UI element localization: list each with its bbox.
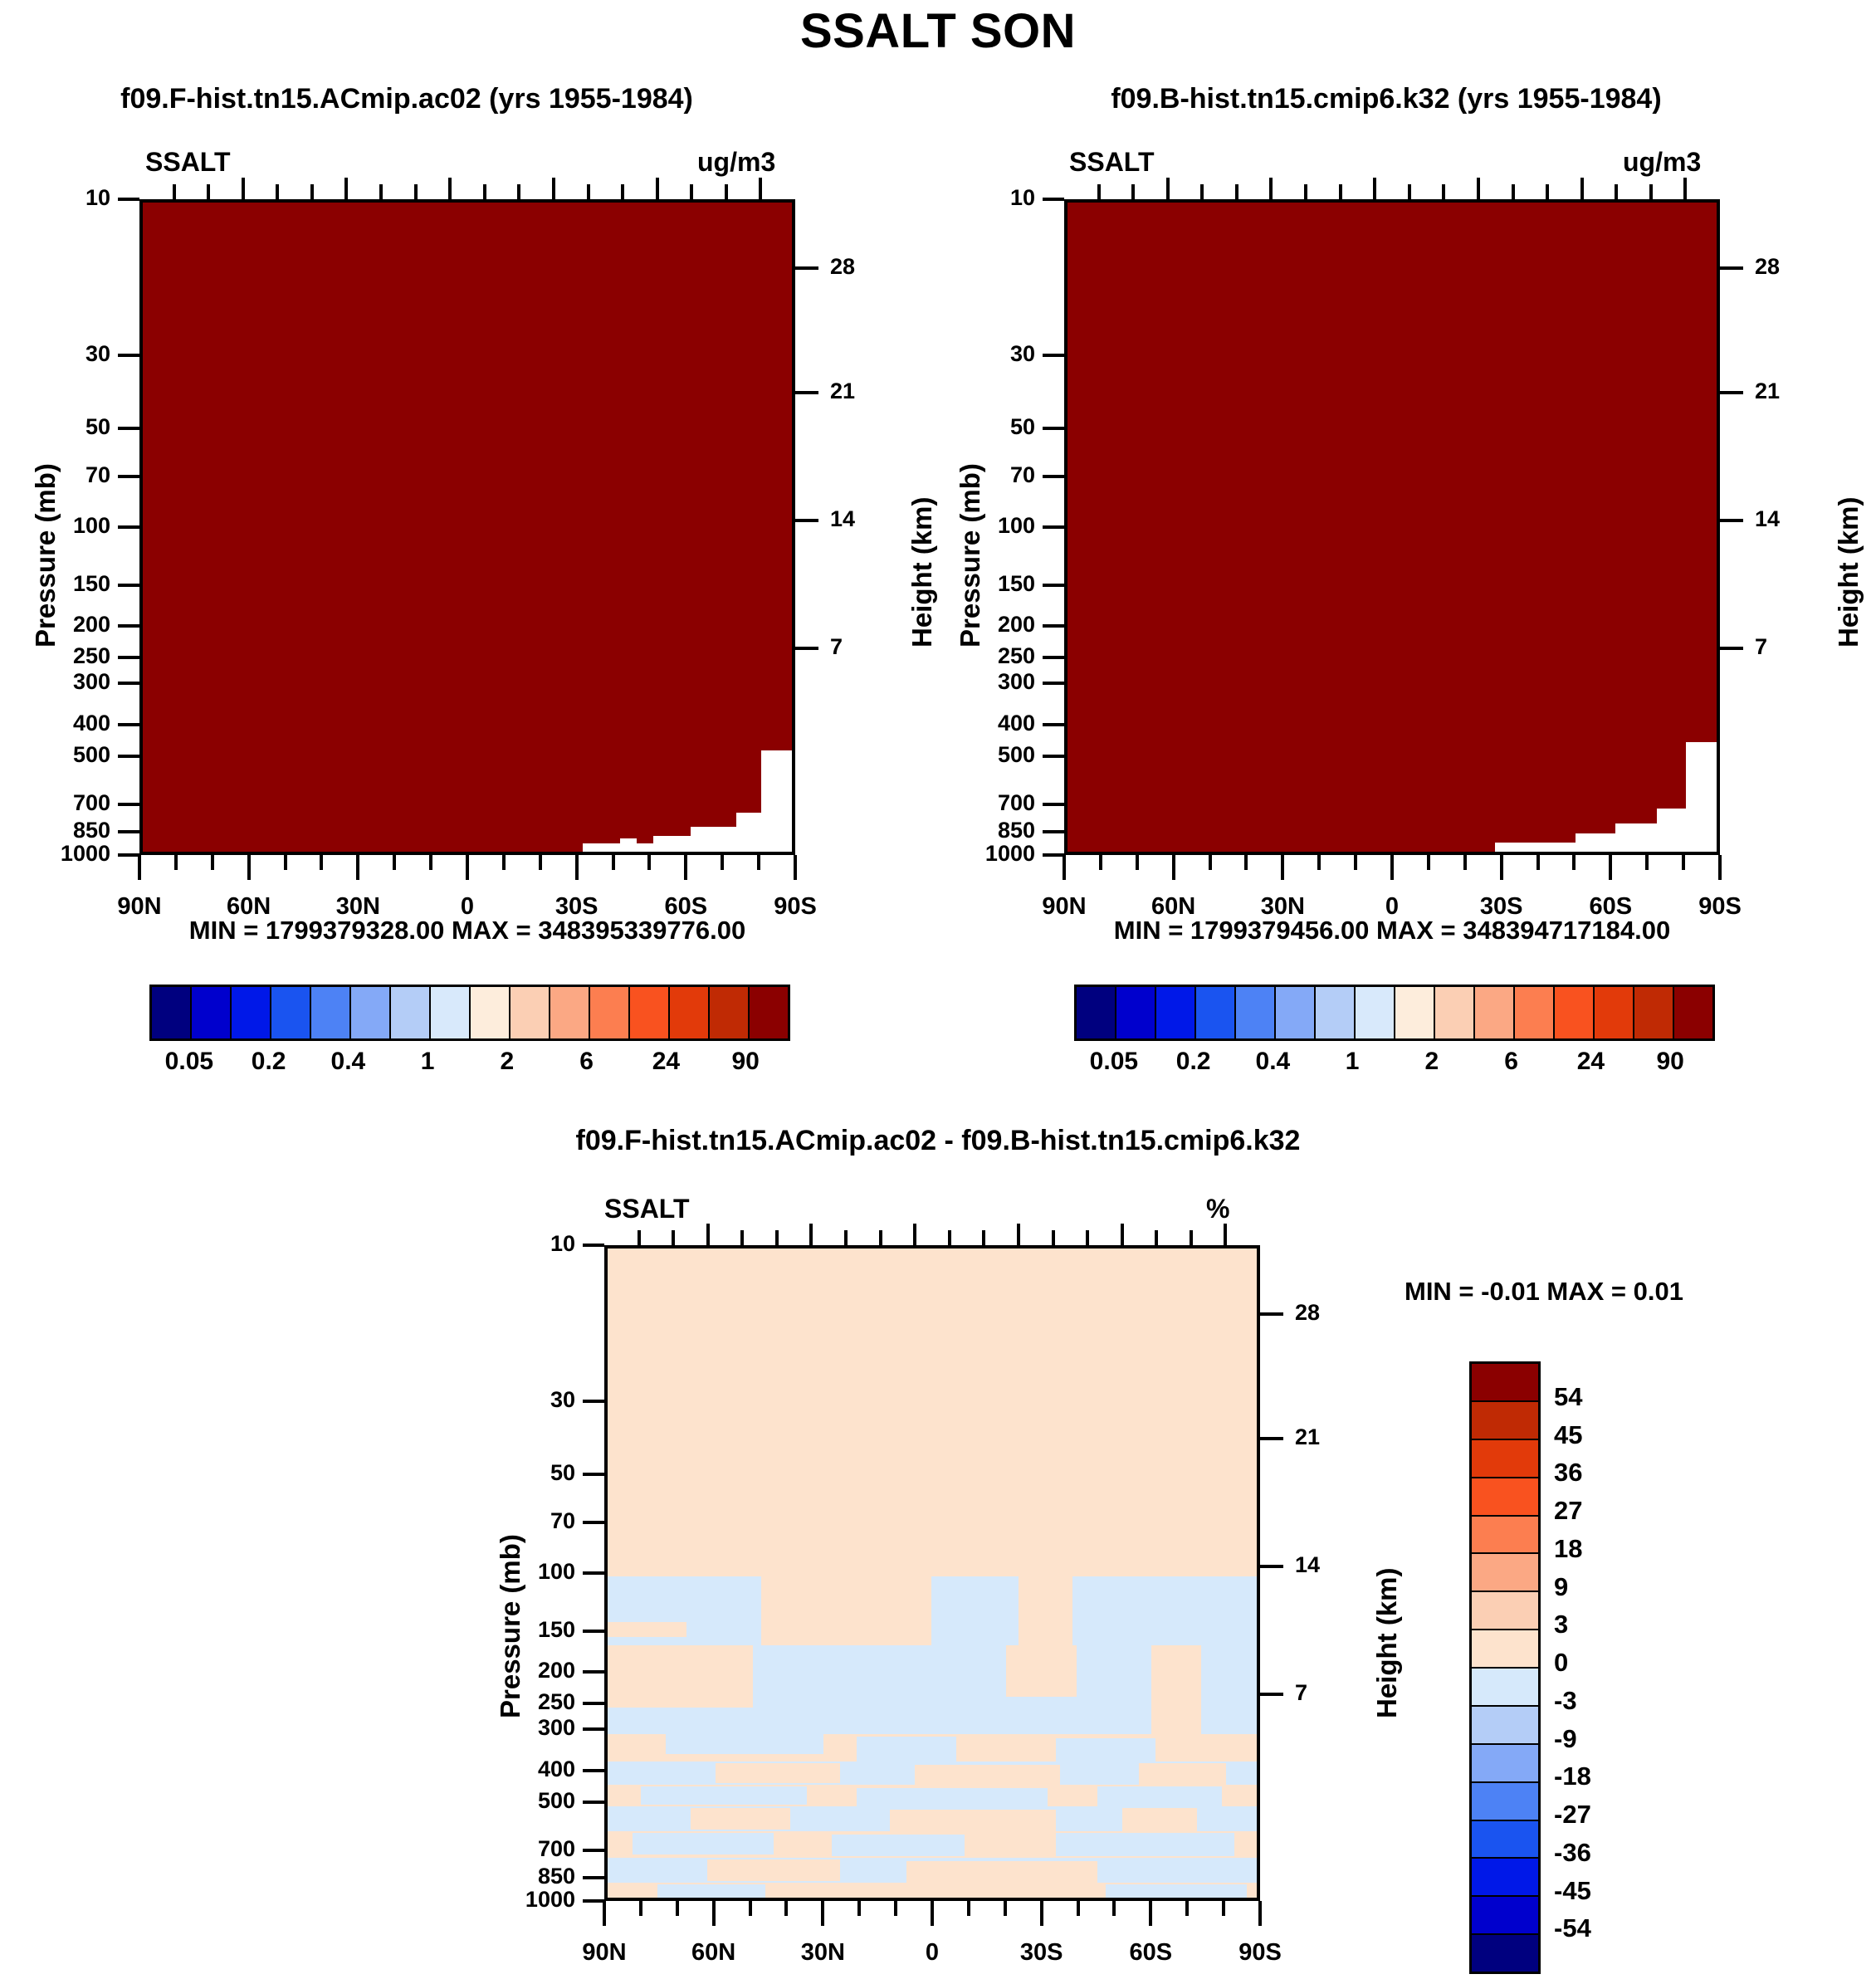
diff-toptick-7 <box>844 1230 848 1245</box>
top-left-toptick-15 <box>656 178 659 199</box>
top-right-mask-wedge-c <box>1615 823 1661 855</box>
diff-ylabel-4: 100 <box>459 1559 575 1585</box>
diff-ylabel-5: 150 <box>459 1617 575 1643</box>
top-right-bottick-7 <box>1317 855 1321 870</box>
top-left-mask-wedge-b <box>736 813 765 855</box>
top-left-bottick-6 <box>356 855 359 880</box>
diff-region-neg-17 <box>657 1884 765 1901</box>
top-right-ytick-11 <box>1043 803 1064 806</box>
top-left-xlabel-6: 90S <box>737 893 853 921</box>
top-left-xlabel-5: 60S <box>628 893 744 921</box>
diff-xlabel-3: 0 <box>874 1939 990 1967</box>
top-left-mask-wedge-c <box>691 827 740 855</box>
diff-region-pos-3 <box>1019 1576 1072 1655</box>
top-right-ylabel-10: 500 <box>919 742 1035 768</box>
top-left-ytick-6 <box>118 624 139 628</box>
top-right-xlabel-5: 60S <box>1552 893 1668 921</box>
diff-bottick-11 <box>1004 1901 1007 1916</box>
colorbar-top-right-cell-12[interactable] <box>1555 987 1595 1038</box>
top-left-toptick-9 <box>448 178 452 199</box>
diff-panel-title: f09.F-hist.tn15.ACmip.ac02 - f09.B-hist.… <box>274 1125 1602 1157</box>
top-right-mask-wedge-e <box>1495 843 1578 855</box>
top-right-xlabel-2: 30N <box>1224 893 1341 921</box>
top-left-ylabel-1: 30 <box>0 341 110 367</box>
colorbar-diff-cell-7[interactable] <box>1472 1630 1538 1669</box>
diff-ylabel-2: 50 <box>459 1460 575 1486</box>
top-right-y2tick-1 <box>1720 391 1743 394</box>
top-right-mask-wedge-b <box>1657 809 1690 855</box>
diff-toptick-8 <box>879 1230 882 1245</box>
top-left-toptick-11 <box>517 184 520 199</box>
colorbar-top-left-cell-13[interactable] <box>670 987 710 1038</box>
colorbar-top-right-cell-7[interactable] <box>1356 987 1395 1038</box>
top-left-heatmap-fill <box>143 203 792 852</box>
diff-bottick-2 <box>676 1901 679 1916</box>
colorbar-diff-label-3: 27 <box>1554 1496 1582 1526</box>
diff-toptick-16 <box>1155 1230 1158 1245</box>
diff-region-neg-9 <box>641 1786 807 1805</box>
diff-ylabel-1: 30 <box>459 1387 575 1413</box>
top-right-bottick-5 <box>1244 855 1248 870</box>
colorbar-diff-cell-13[interactable] <box>1472 1859 1538 1897</box>
top-left-ylabel-0: 10 <box>0 185 110 211</box>
top-right-ytick-7 <box>1043 656 1064 659</box>
diff-y2tick-0 <box>1260 1312 1283 1316</box>
diff-var-label: SSALT <box>604 1194 690 1224</box>
top-right-ylabel-1: 30 <box>919 341 1035 367</box>
top-right-toptick-5 <box>1235 184 1238 199</box>
colorbar-diff-label-14: -54 <box>1554 1913 1591 1943</box>
top-right-toptick-8 <box>1339 184 1342 199</box>
diff-bottick-14 <box>1112 1901 1116 1916</box>
top-right-y2tick-3 <box>1720 647 1743 650</box>
top-left-toptick-8 <box>414 184 418 199</box>
colorbar-top-left-cell-9[interactable] <box>511 987 550 1038</box>
top-right-y2label-1: 21 <box>1755 379 1821 404</box>
top-left-ylabel-5: 150 <box>0 571 110 597</box>
top-left-bottick-17 <box>757 855 760 870</box>
top-right-ytick-9 <box>1043 723 1064 726</box>
diff-region-neg-6 <box>857 1737 956 1762</box>
diff-region-pos-17 <box>906 1861 1097 1883</box>
colorbar-diff-label-2: 36 <box>1554 1458 1582 1488</box>
top-right-ylabel-6: 200 <box>919 612 1035 638</box>
top-right-toptick-18 <box>1683 178 1687 199</box>
colorbar-top-left-cell-6[interactable] <box>391 987 431 1038</box>
top-right-toptick-9 <box>1373 178 1376 199</box>
top-right-xlabel-0: 90N <box>1006 893 1122 921</box>
top-right-bottick-17 <box>1682 855 1685 870</box>
top-left-ytick-7 <box>118 656 139 659</box>
colorbar-top-right-cell-11[interactable] <box>1515 987 1555 1038</box>
colorbar-diff[interactable] <box>1469 1361 1541 1974</box>
top-right-bottick-13 <box>1536 855 1540 870</box>
diff-region-neg-11 <box>1097 1786 1222 1806</box>
top-left-ylabel-11: 700 <box>0 790 110 816</box>
diff-ylabel-10: 500 <box>459 1788 575 1814</box>
top-left-bottick-18 <box>794 855 797 880</box>
colorbar-diff-label-6: 3 <box>1554 1610 1568 1639</box>
top-right-ylabel-11: 700 <box>919 790 1035 816</box>
diff-region-pos-10 <box>1139 1763 1226 1785</box>
colorbar-top-right-cell-15[interactable] <box>1674 987 1712 1038</box>
colorbar-top-right-cell-4[interactable] <box>1236 987 1276 1038</box>
diff-xlabel-4: 30S <box>984 1939 1100 1967</box>
top-right-toptick-13 <box>1512 184 1515 199</box>
diff-region-pos-9 <box>915 1765 1060 1785</box>
colorbar-top-left-cell-5[interactable] <box>351 987 391 1038</box>
colorbar-diff-cell-12[interactable] <box>1472 1821 1538 1859</box>
top-right-units-label: ug/m3 <box>1623 147 1701 178</box>
diff-min-max-label: MIN = -0.01 MAX = 0.01 <box>1295 1277 1793 1307</box>
diff-y2tick-2 <box>1260 1565 1283 1568</box>
diff-ytick-7 <box>583 1702 604 1705</box>
top-left-xlabel-3: 0 <box>409 893 525 921</box>
top-left-bottick-3 <box>247 855 251 880</box>
colorbar-diff-cell-15[interactable] <box>1472 1935 1538 1972</box>
colorbar-diff-cell-8[interactable] <box>1472 1669 1538 1707</box>
top-left-ylabel-13: 1000 <box>0 841 110 867</box>
diff-toptick-10 <box>948 1230 951 1245</box>
top-right-toptick-2 <box>1131 184 1135 199</box>
diff-ylabel-13: 1000 <box>459 1887 575 1913</box>
colorbar-top-right-cell-6[interactable] <box>1316 987 1356 1038</box>
top-right-ylabel-12: 850 <box>919 818 1035 843</box>
top-left-toptick-17 <box>725 184 728 199</box>
diff-region-pos-14 <box>1122 1808 1197 1831</box>
diff-region-neg-10 <box>857 1788 1048 1806</box>
colorbar-diff-label-13: -45 <box>1554 1876 1591 1906</box>
colorbar-top-right-cell-13[interactable] <box>1595 987 1634 1038</box>
top-left-bottick-4 <box>284 855 287 870</box>
top-right-ytick-12 <box>1043 830 1064 833</box>
diff-bottick-15 <box>1149 1901 1152 1926</box>
top-right-xlabel-6: 90S <box>1662 893 1778 921</box>
colorbar-top-left-cell-11[interactable] <box>590 987 630 1038</box>
colorbar-top-left-cell-8[interactable] <box>471 987 511 1038</box>
top-left-ytick-4 <box>118 525 139 529</box>
diff-ylabel-7: 250 <box>459 1689 575 1715</box>
diff-bottick-3 <box>712 1901 716 1926</box>
diff-bottick-9 <box>931 1901 934 1926</box>
diff-region-pos-5 <box>1006 1645 1077 1697</box>
top-left-ytick-12 <box>118 830 139 833</box>
colorbar-top-right-label-7: 90 <box>1620 1048 1720 1076</box>
diff-region-neg-5 <box>666 1734 823 1754</box>
diff-ytick-5 <box>583 1630 604 1633</box>
colorbar-top-right-cell-10[interactable] <box>1475 987 1515 1038</box>
diff-toptick-14 <box>1086 1230 1089 1245</box>
colorbar-diff-cell-9[interactable] <box>1472 1707 1538 1745</box>
colorbar-diff-cell-6[interactable] <box>1472 1592 1538 1630</box>
diff-toptick-1 <box>638 1230 641 1245</box>
top-left-mask-wedge-d <box>653 836 693 855</box>
top-right-y2-axis-title: Height (km) <box>1833 497 1864 648</box>
colorbar-top-right-cell-8[interactable] <box>1395 987 1435 1038</box>
diff-ytick-2 <box>583 1473 604 1476</box>
colorbar-top-right-cell-14[interactable] <box>1634 987 1674 1038</box>
top-right-mask-wedge-a <box>1686 742 1720 855</box>
top-left-ylabel-8: 300 <box>0 669 110 695</box>
diff-toptick-13 <box>1052 1230 1055 1245</box>
top-left-toptick-3 <box>242 178 245 199</box>
top-right-heatmap-fill <box>1067 203 1717 852</box>
diff-region-neg-2 <box>931 1576 1019 1655</box>
diff-toptick-2 <box>672 1230 675 1245</box>
top-left-toptick-7 <box>379 184 383 199</box>
top-left-mask-wedge-f <box>620 838 637 847</box>
top-right-var-label: SSALT <box>1069 147 1155 178</box>
top-left-bottick-14 <box>647 855 651 870</box>
top-right-toptick-15 <box>1580 178 1584 199</box>
top-left-units-label: ug/m3 <box>697 147 775 178</box>
top-left-bottick-15 <box>684 855 687 880</box>
top-right-xlabel-4: 30S <box>1444 893 1560 921</box>
top-left-y2tick-3 <box>795 647 818 650</box>
top-right-bottick-12 <box>1500 855 1503 880</box>
diff-y2label-2: 14 <box>1295 1552 1361 1578</box>
colorbar-top-left-cell-12[interactable] <box>630 987 670 1038</box>
colorbar-top-right[interactable] <box>1074 985 1715 1041</box>
top-right-y2tick-0 <box>1720 266 1743 270</box>
colorbar-diff-label-5: 9 <box>1554 1572 1568 1602</box>
top-right-y2label-2: 14 <box>1755 506 1821 532</box>
top-left-bottick-11 <box>539 855 542 870</box>
top-right-bottick-15 <box>1609 855 1612 880</box>
diff-ytick-4 <box>583 1571 604 1575</box>
diff-y2-axis-title: Height (km) <box>1371 1568 1403 1719</box>
top-right-toptick-14 <box>1546 184 1549 199</box>
top-left-toptick-5 <box>310 184 314 199</box>
colorbar-diff-cell-1[interactable] <box>1472 1402 1538 1440</box>
top-left-toptick-10 <box>483 184 486 199</box>
top-right-ylabel-4: 100 <box>919 513 1035 539</box>
top-right-toptick-7 <box>1304 184 1307 199</box>
colorbar-diff-cell-3[interactable] <box>1472 1478 1538 1517</box>
diff-bottick-10 <box>967 1901 970 1916</box>
top-right-plot-area[interactable] <box>1064 199 1720 855</box>
top-right-xlabel-1: 60N <box>1116 893 1232 921</box>
top-right-y2label-3: 7 <box>1755 634 1821 660</box>
top-right-toptick-12 <box>1477 178 1480 199</box>
top-right-panel-title: f09.B-hist.tn15.cmip6.k32 (yrs 1955-1984… <box>988 83 1785 115</box>
top-left-bottick-7 <box>393 855 396 870</box>
top-left-toptick-2 <box>207 184 210 199</box>
top-right-bottick-8 <box>1354 855 1357 870</box>
top-left-toptick-1 <box>173 184 176 199</box>
diff-ylabel-0: 10 <box>459 1231 575 1257</box>
top-left-bottick-13 <box>612 855 615 870</box>
top-right-bottick-18 <box>1718 855 1722 880</box>
diff-toptick-4 <box>740 1230 744 1245</box>
diff-bottick-8 <box>894 1901 897 1916</box>
diff-ytick-6 <box>583 1670 604 1674</box>
diff-ytick-10 <box>583 1801 604 1804</box>
diff-bottick-17 <box>1222 1901 1225 1916</box>
diff-plot-area[interactable] <box>604 1245 1260 1901</box>
colorbar-top-left-cell-0[interactable] <box>152 987 192 1038</box>
top-right-bottick-3 <box>1172 855 1175 880</box>
top-left-toptick-14 <box>621 184 624 199</box>
top-right-toptick-11 <box>1442 184 1445 199</box>
colorbar-top-left-cell-10[interactable] <box>550 987 590 1038</box>
diff-y2label-0: 28 <box>1295 1300 1361 1326</box>
colorbar-top-left-cell-7[interactable] <box>431 987 471 1038</box>
top-left-bottick-12 <box>575 855 579 880</box>
top-left-xlabel-0: 90N <box>81 893 198 921</box>
colorbar-top-right-cell-9[interactable] <box>1435 987 1475 1038</box>
top-left-ylabel-10: 500 <box>0 742 110 768</box>
top-left-ytick-11 <box>118 803 139 806</box>
colorbar-top-right-cell-0[interactable] <box>1077 987 1116 1038</box>
diff-y2label-3: 7 <box>1295 1680 1361 1706</box>
top-left-panel-title: f09.F-hist.tn15.ACmip.ac02 (yrs 1955-198… <box>33 83 780 115</box>
diff-region-neg-3 <box>1072 1576 1260 1655</box>
diff-bottick-13 <box>1077 1901 1080 1916</box>
diff-bottick-6 <box>821 1901 824 1926</box>
top-right-y2label-0: 28 <box>1755 254 1821 280</box>
diff-y2label-1: 21 <box>1295 1424 1361 1450</box>
top-left-ytick-9 <box>118 723 139 726</box>
diff-bottick-1 <box>639 1901 642 1916</box>
diff-units-label: % <box>1206 1194 1229 1224</box>
colorbar-top-left-cell-14[interactable] <box>710 987 750 1038</box>
diff-ytick-13 <box>583 1899 604 1903</box>
top-right-ylabel-5: 150 <box>919 571 1035 597</box>
diff-ytick-3 <box>583 1521 604 1524</box>
top-left-ytick-1 <box>118 354 139 357</box>
diff-bottick-7 <box>857 1901 861 1916</box>
diff-ytick-0 <box>583 1244 604 1247</box>
top-right-toptick-3 <box>1166 178 1170 199</box>
top-right-ylabel-0: 10 <box>919 185 1035 211</box>
diff-region-neg-15 <box>1056 1833 1234 1856</box>
top-right-ytick-8 <box>1043 682 1064 685</box>
colorbar-diff-label-10: -18 <box>1554 1762 1591 1791</box>
diff-toptick-5 <box>775 1230 779 1245</box>
top-right-ylabel-3: 70 <box>919 462 1035 488</box>
diff-bottick-12 <box>1040 1901 1043 1926</box>
colorbar-top-left-cell-1[interactable] <box>192 987 232 1038</box>
top-left-y2tick-0 <box>795 266 818 270</box>
top-right-y2tick-2 <box>1720 519 1743 522</box>
top-left-bottick-5 <box>320 855 323 870</box>
diff-xlabel-1: 60N <box>656 1939 772 1967</box>
colorbar-diff-cell-0[interactable] <box>1472 1364 1538 1402</box>
colorbar-diff-cell-4[interactable] <box>1472 1517 1538 1555</box>
top-left-ylabel-2: 50 <box>0 414 110 440</box>
colorbar-diff-cell-14[interactable] <box>1472 1897 1538 1935</box>
colorbar-diff-cell-2[interactable] <box>1472 1440 1538 1478</box>
colorbar-top-left-cell-15[interactable] <box>750 987 788 1038</box>
top-left-mask-wedge-a <box>761 750 795 855</box>
colorbar-diff-cell-11[interactable] <box>1472 1783 1538 1821</box>
top-right-xlabel-3: 0 <box>1334 893 1450 921</box>
diff-region-pos-2 <box>786 1576 877 1655</box>
top-left-ylabel-9: 400 <box>0 711 110 736</box>
top-right-ytick-0 <box>1043 198 1064 201</box>
diff-ylabel-12: 850 <box>459 1864 575 1889</box>
top-right-toptick-17 <box>1649 184 1653 199</box>
top-left-bottick-1 <box>174 855 178 870</box>
diff-ytick-12 <box>583 1876 604 1879</box>
diff-y2tick-1 <box>1260 1437 1283 1440</box>
top-right-ytick-4 <box>1043 525 1064 529</box>
diff-region-neg-13 <box>633 1833 774 1854</box>
diff-ylabel-11: 700 <box>459 1836 575 1862</box>
colorbar-top-left-cell-4[interactable] <box>311 987 351 1038</box>
diff-xlabel-2: 30N <box>765 1939 881 1967</box>
top-left-xlabel-1: 60N <box>191 893 307 921</box>
colorbar-diff-label-8: -3 <box>1554 1686 1577 1716</box>
top-right-ylabel-2: 50 <box>919 414 1035 440</box>
colorbar-top-right-cell-3[interactable] <box>1196 987 1236 1038</box>
diff-region-pos-8 <box>716 1763 840 1783</box>
colorbar-top-left-cell-3[interactable] <box>271 987 311 1038</box>
diff-toptick-3 <box>706 1224 710 1245</box>
colorbar-top-right-cell-2[interactable] <box>1156 987 1196 1038</box>
top-left-y2label-3: 7 <box>830 634 896 660</box>
diff-toptick-11 <box>982 1230 985 1245</box>
top-left-ylabel-6: 200 <box>0 612 110 638</box>
diff-ytick-11 <box>583 1849 604 1852</box>
diff-toptick-9 <box>913 1224 916 1245</box>
top-left-toptick-6 <box>344 178 348 199</box>
diff-region-neg-7 <box>1056 1738 1155 1762</box>
top-left-y2label-0: 28 <box>830 254 896 280</box>
top-left-plot-area[interactable] <box>139 199 795 855</box>
diff-toptick-6 <box>809 1224 813 1245</box>
diff-ytick-9 <box>583 1769 604 1772</box>
top-left-ylabel-3: 70 <box>0 462 110 488</box>
top-right-mask-wedge-d <box>1576 833 1617 855</box>
top-left-var-label: SSALT <box>145 147 231 178</box>
colorbar-top-left-label-7: 90 <box>696 1048 795 1076</box>
diff-ylabel-8: 300 <box>459 1715 575 1741</box>
diff-region-neg-18 <box>1106 1884 1247 1901</box>
top-left-ylabel-12: 850 <box>0 818 110 843</box>
colorbar-top-right-cell-5[interactable] <box>1276 987 1316 1038</box>
colorbar-top-left[interactable] <box>149 985 790 1041</box>
colorbar-top-left-cell-2[interactable] <box>232 987 271 1038</box>
diff-y2tick-3 <box>1260 1693 1283 1696</box>
diff-toptick-12 <box>1017 1224 1020 1245</box>
colorbar-diff-cell-10[interactable] <box>1472 1745 1538 1783</box>
diff-region-pos-1 <box>608 1622 686 1637</box>
top-left-ytick-0 <box>118 198 139 201</box>
diff-region-pos-16 <box>707 1859 840 1881</box>
top-right-ytick-1 <box>1043 354 1064 357</box>
top-right-ylabel-7: 250 <box>919 643 1035 669</box>
top-right-bottick-6 <box>1281 855 1284 880</box>
top-right-ytick-10 <box>1043 755 1064 758</box>
diff-region-pos-6 <box>1151 1645 1201 1741</box>
top-right-toptick-1 <box>1097 184 1101 199</box>
top-left-bottick-9 <box>466 855 469 880</box>
top-left-ytick-3 <box>118 475 139 478</box>
diff-ylabel-6: 200 <box>459 1658 575 1683</box>
top-left-y2tick-1 <box>795 391 818 394</box>
top-left-toptick-12 <box>552 178 555 199</box>
top-left-ytick-8 <box>118 682 139 685</box>
diff-ytick-8 <box>583 1727 604 1731</box>
top-left-xlabel-2: 30N <box>300 893 416 921</box>
top-left-ytick-10 <box>118 755 139 758</box>
top-right-bottick-16 <box>1645 855 1649 870</box>
colorbar-diff-cell-5[interactable] <box>1472 1554 1538 1592</box>
colorbar-top-right-cell-1[interactable] <box>1116 987 1156 1038</box>
diff-ylabel-9: 400 <box>459 1757 575 1782</box>
